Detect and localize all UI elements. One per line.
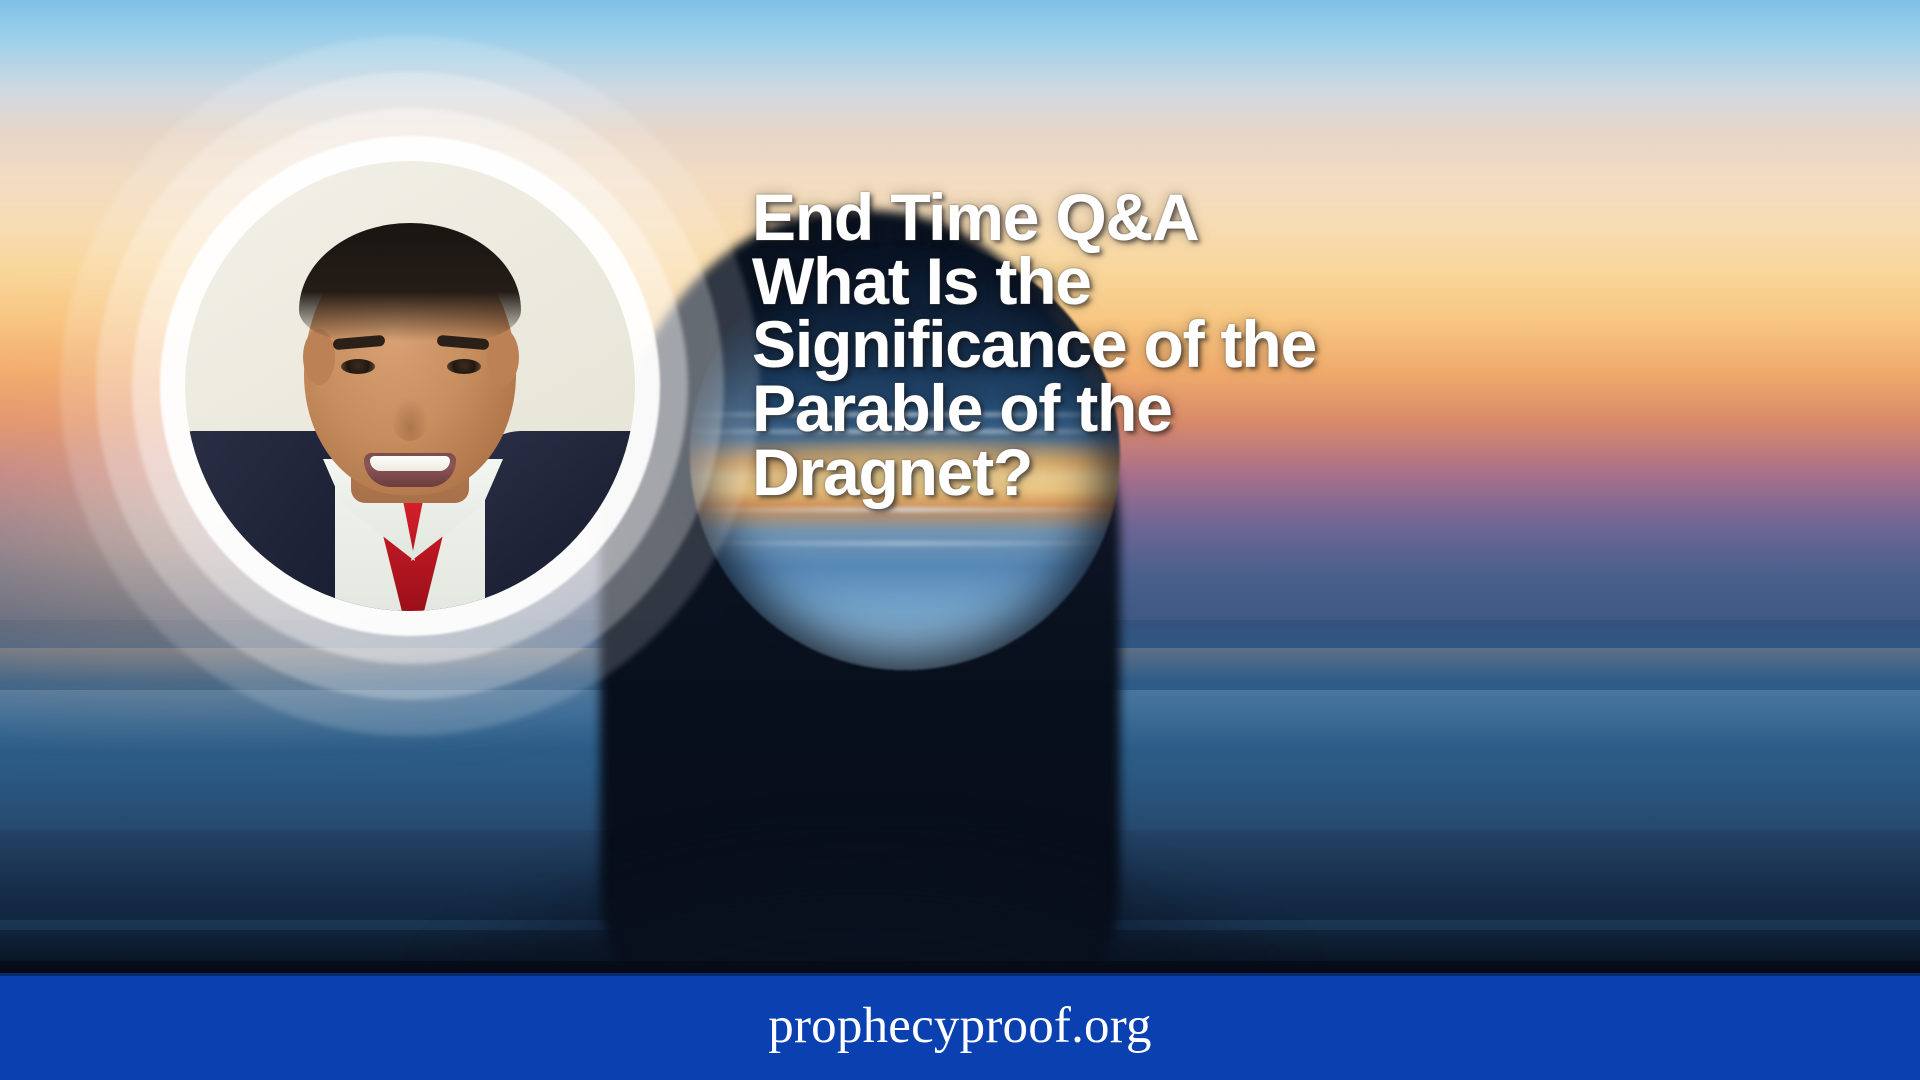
website-url-bar: prophecyproof.org [0,973,1920,1080]
website-url-text[interactable]: prophecyproof.org [768,1001,1151,1052]
eye-left [341,359,375,374]
hair [299,223,521,341]
bar-top-shadow [0,961,1920,973]
nose [391,397,429,441]
eye-right [447,359,481,374]
smiling-mouth [364,453,456,487]
host-portrait [185,161,635,611]
teeth [370,456,451,471]
video-title: End Time Q&A What Is the Significance of… [752,186,1492,504]
ear-right [487,329,519,385]
thumbnail-canvas: End Time Q&A What Is the Significance of… [0,0,1920,1080]
